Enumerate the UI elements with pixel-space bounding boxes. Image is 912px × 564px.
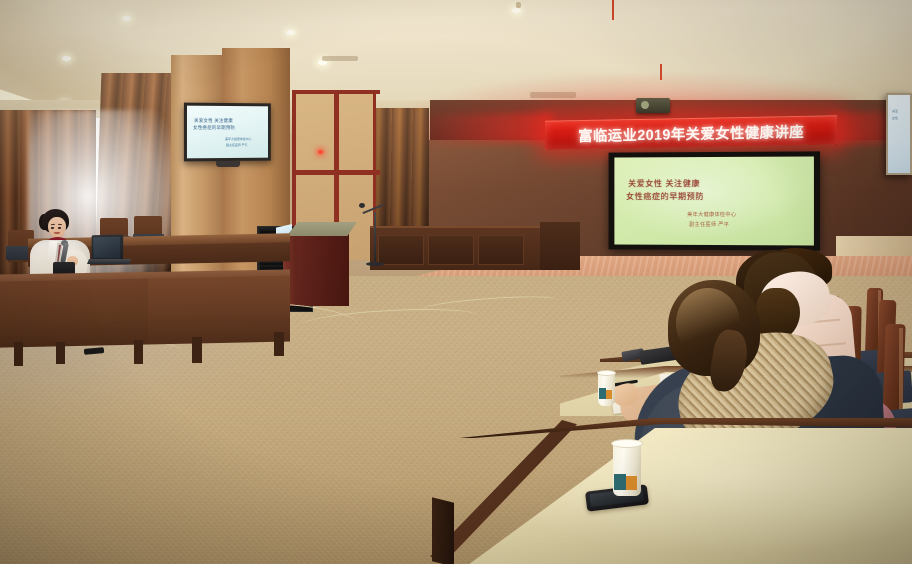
slide-subline-2: 副主任医师 严平 [689,221,729,228]
cup-band-orange [606,390,612,399]
slide-headline-1: 关爱女性 关注健康 [628,177,700,189]
back-credenza [370,226,540,270]
ceiling-vent [322,56,358,61]
downlight [62,56,71,61]
led-banner-text: 富临运业2019年关爱女性健康讲座 [578,120,804,145]
presenter-laptop-keyboard[interactable] [87,259,131,264]
credenza-panel [428,235,474,265]
cup-rim [597,370,616,376]
desk-leg [134,340,143,364]
mic-stand-base [366,262,384,266]
desk-leg [192,337,202,363]
tv-left-headline-2: 女性癌症的早期预防 [193,125,235,131]
tv-left-subline-1: 美年大健康体检中心 [225,137,252,141]
tv-left-stand [216,161,240,167]
chair-highlight [899,328,903,418]
cup-band-teal [599,388,606,399]
foreground-table-leg [432,497,454,564]
tv-monitor-left: 关爱女性 关注健康 女性癌症的早期预防 美年大健康体检中心 副主任医师 严平 [184,103,271,162]
speaker-desk-front-right [148,276,290,345]
desk-leg [274,332,284,356]
speaker-desk-front-left [0,278,150,347]
downlight [512,8,521,13]
cup-band-orange [626,476,637,490]
desk-leg [56,342,65,364]
presenter-eye [58,227,61,229]
tv-left-headline-1: 关爱女性 关注健康 [194,118,233,124]
cup-band-teal [614,474,626,490]
downlight [122,16,131,21]
tv-right-line-1: 关爱 [892,109,898,113]
projection-screen-surface: 关爱女性 关注健康 女性癌症的早期预防 美年大健康体检中心 副主任医师 严平 [614,156,814,245]
tv-left-screen: 关爱女性 关注健康 女性癌症的早期预防 美年大健康体检中心 副主任医师 严平 [187,106,268,159]
hanging-wire [612,0,614,20]
slide-subline-1: 美年大健康体检中心 [687,211,736,218]
led-glow-left [418,113,553,146]
conference-hall-photo: 富临运业2019年关爱女性健康讲座 关爱女性 关注健康 女性癌症的早期预防 美年… [0,0,912,564]
tv-right-screen: 关爱 女性 [888,95,910,173]
grid-bar-horizontal [296,170,380,175]
desk-leg [14,342,23,366]
projector-lens-icon [641,101,649,109]
presenter-eye [51,227,54,229]
slide-headline-2: 女性癌症的早期预防 [626,190,704,202]
credenza-panel [378,235,424,265]
led-banner: 富临运业2019年关爱女性健康讲座 [545,115,837,150]
mic-stand-pole [374,212,376,264]
grid-bar-top [296,90,380,94]
microphone-icon [359,203,365,208]
stage-side-rail [540,222,580,270]
projection-screen-frame: 关爱女性 关注健康 女性癌症的早期预防 美年大健康体检中心 副主任医师 严平 [609,151,821,250]
credenza-panel [478,235,524,265]
tv-left-subline-2: 副主任医师 严平 [226,143,247,147]
downlight [286,30,295,35]
cup-rim [611,439,643,448]
sprinkler-head [516,2,521,8]
presenter-laptop-screen [93,237,120,258]
tv-monitor-right: 关爱 女性 [886,93,912,175]
laser-pointer-dot [318,150,323,154]
tv-right-line-2: 女性 [892,116,898,120]
